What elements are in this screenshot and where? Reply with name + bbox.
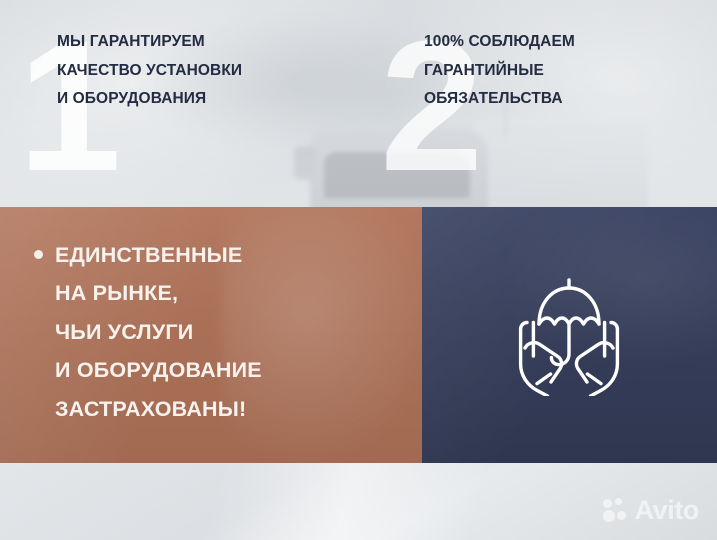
headline-guarantee-quality: МЫ ГАРАНТИРУЕМ КАЧЕСТВО УСТАНОВКИ И ОБОР… (57, 28, 387, 114)
insured-claim: ЕДИНСТВЕННЫЕ НА РЫНКЕ, ЧЬИ УСЛУГИ И ОБОР… (34, 236, 414, 428)
bullet-dot-icon (34, 250, 43, 259)
insured-claim-text: ЕДИНСТВЕННЫЕ НА РЫНКЕ, ЧЬИ УСЛУГИ И ОБОР… (55, 236, 262, 428)
umbrella-in-hands-icon (503, 272, 635, 396)
avito-wordmark: Avito (635, 497, 700, 524)
promo-banner: 1 2 МЫ ГАРАНТИРУЕМ КАЧЕСТВО УСТАНОВКИ И … (0, 0, 717, 540)
headline-warranty-obligations: 100% СОБЛЮДАЕМ ГАРАНТИЙНЫЕ ОБЯЗАТЕЛЬСТВА (424, 28, 709, 114)
avito-dots-logo-icon (603, 498, 629, 524)
avito-watermark: Avito (603, 497, 700, 524)
